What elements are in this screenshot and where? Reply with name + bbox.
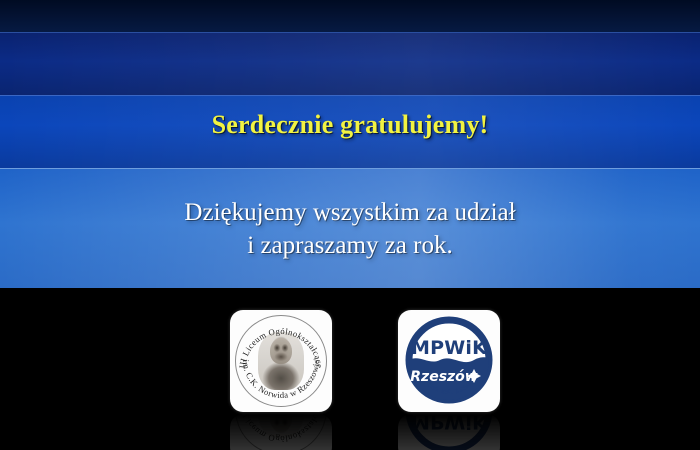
slide-body-line-2: i zapraszamy za rok. bbox=[0, 229, 700, 262]
mpwik-logo-container: MPWiK Rzeszów Rok zał. 1934 bbox=[398, 310, 500, 412]
presentation-slide: Serdecznie gratulujemy! Dziękujemy wszys… bbox=[0, 0, 700, 450]
seal-text-bottom: im. C.K. Norwida w Rzeszowie bbox=[241, 359, 321, 400]
school-logo-container: III Liceum Ogólnokształcące im. C.K. Nor… bbox=[230, 310, 332, 412]
background-band-1 bbox=[0, 0, 700, 32]
seal-text-bottom-path: im. C.K. Norwida w Rzeszowie bbox=[241, 359, 321, 400]
background-band-2 bbox=[0, 32, 700, 96]
mpwik-logo-tile: MPWiK Rzeszów Rok zał. 1934 bbox=[398, 310, 500, 412]
slide-body: Dziękujemy wszystkim za udział i zaprasz… bbox=[0, 196, 700, 262]
mpwik-logo-graphic: MPWiK Rzeszów Rok zał. 1934 bbox=[398, 310, 500, 412]
background-band-bottom bbox=[0, 288, 700, 450]
mpwik-wordmark: MPWiK bbox=[411, 337, 488, 359]
school-logo-tile: III Liceum Ogólnokształcące im. C.K. Nor… bbox=[230, 310, 332, 412]
seal-curved-text: III Liceum Ogólnokształcące im. C.K. Nor… bbox=[230, 310, 332, 412]
slide-title: Serdecznie gratulujemy! bbox=[0, 110, 700, 140]
slide-body-line-1: Dziękujemy wszystkim za udział bbox=[0, 196, 700, 229]
